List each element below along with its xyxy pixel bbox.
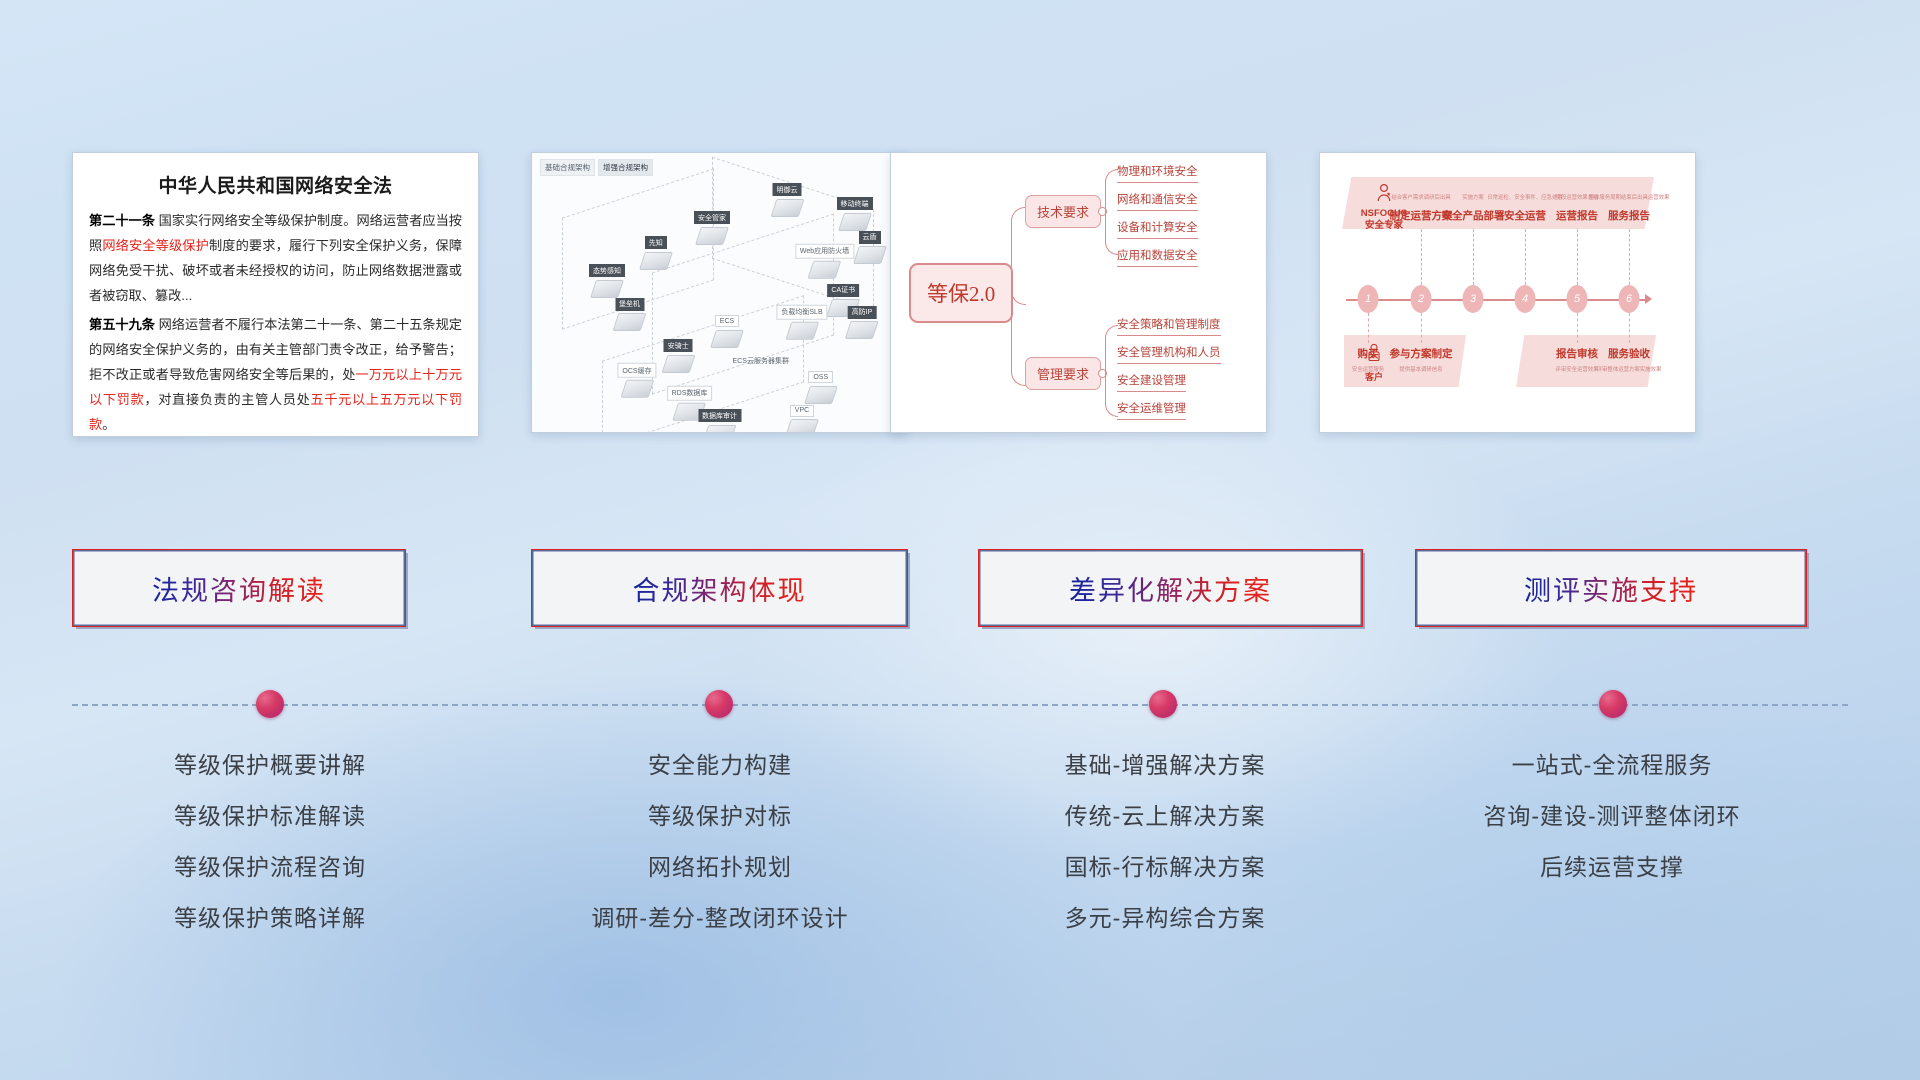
architecture-node-label: 先知	[645, 236, 667, 249]
server-box-icon	[785, 322, 819, 340]
list-item[interactable]: 等级保护流程咨询	[90, 842, 450, 893]
dengbao-mindmap: 等保2.0 技术要求 物理和环境安全 网络和通信安全 设备和计算安全 应用和数据…	[891, 153, 1266, 432]
architecture-node[interactable]: 负载均衡SLB	[776, 301, 827, 340]
architecture-node-label: CA证书	[827, 284, 859, 297]
timeline-top-step-sub: 实施方案	[1462, 193, 1484, 201]
detail-list-1: 安全能力构建 等级保护对标 网络拓扑规划 调研-差分-整改闭环设计	[540, 740, 900, 944]
section-heading-label: 合规架构体现	[633, 569, 807, 608]
architecture-node[interactable]: 移动终端	[837, 193, 873, 231]
architecture-node-label: 高防IP	[848, 306, 877, 319]
timeline-stem	[1525, 229, 1526, 285]
section-heading-1[interactable]: 合规架构体现	[531, 549, 908, 627]
section-heading-label: 测评实施支持	[1524, 569, 1698, 608]
mindmap-leaf[interactable]: 安全策略和管理制度	[1117, 316, 1221, 336]
architecture-node[interactable]: 明御云	[773, 179, 802, 217]
timeline-connector	[0, 690, 1920, 720]
root-curve-lower	[1011, 303, 1026, 386]
timeline-bottom-step-sub: 评审整体运营方案实施效果	[1597, 365, 1662, 373]
timeline-top-step-title[interactable]: 服务报告	[1608, 208, 1650, 223]
root-curve-upper	[1011, 207, 1026, 305]
architecture-node[interactable]: ECS	[713, 310, 741, 348]
section-heading-label: 差异化解决方案	[1069, 569, 1272, 608]
nsfocus-timeline-card[interactable]: NSFOCUS 安全专家 客户 123456制定运营方案结合客户需求调研后出具安…	[1319, 152, 1696, 433]
architecture-node-label: 移动终端	[837, 197, 873, 210]
law-article-21: 第二十一条 国家实行网络安全等级保护制度。网络运营者应当按照网络安全等级保护制度…	[89, 208, 462, 308]
timeline-top-step-sub: 结合客户需求调研后出具	[1391, 193, 1450, 201]
mindmap-root-node[interactable]: 等保2.0	[909, 263, 1013, 323]
list-item[interactable]: 等级保护对标	[540, 791, 900, 842]
mindmap-branch-management[interactable]: 管理要求	[1025, 357, 1101, 390]
list-item[interactable]: 咨询-建设-测评整体闭环	[1432, 791, 1792, 842]
timeline-stem	[1577, 313, 1578, 343]
mindmap-leaf[interactable]: 安全运维管理	[1117, 400, 1186, 420]
mindmap-leaf[interactable]: 安全建设管理	[1117, 372, 1186, 392]
mindmap-leaf[interactable]: 安全管理机构和人员	[1117, 344, 1221, 364]
architecture-node-label: 安骑士	[664, 339, 693, 352]
architecture-node-label: 堡垒机	[615, 298, 644, 311]
timeline-top-step-sub: 整体服务周期结束后出具运营效果	[1589, 193, 1670, 201]
article-text-seg: ，对直接负责的主管人员处	[144, 392, 310, 407]
timeline-top-step-title[interactable]: 安全产品部署	[1442, 208, 1505, 223]
mindmap-leaf[interactable]: 物理和环境安全	[1117, 163, 1198, 183]
tab-enhanced-architecture[interactable]: 增强合规架构	[598, 159, 653, 176]
mindmap-leaf[interactable]: 网络和通信安全	[1117, 191, 1198, 211]
timeline-stem	[1629, 313, 1630, 343]
timeline-top-step-title[interactable]: 运营报告	[1556, 208, 1598, 223]
architecture-node[interactable]: 安骑士	[664, 335, 693, 373]
architecture-node-label: 负载均衡SLB	[776, 305, 827, 320]
timeline-stem	[1421, 229, 1422, 285]
timeline-node-4[interactable]: 4	[1515, 285, 1536, 313]
timeline-bottom-step-title[interactable]: 报告审核	[1556, 346, 1598, 361]
server-box-icon	[838, 213, 872, 231]
list-item[interactable]: 基础-增强解决方案	[985, 740, 1345, 791]
timeline-bottom-step-sub: 评审安全运营效果	[1555, 365, 1598, 373]
timeline-bottom-step-sub: 安全运营服务	[1352, 365, 1384, 373]
architecture-node-label: Web应用防火墙	[795, 243, 854, 258]
timeline-stem	[1368, 313, 1369, 343]
architecture-node[interactable]: OSS	[807, 366, 835, 404]
architecture-node[interactable]: 先知	[642, 232, 670, 270]
server-box-icon	[613, 313, 647, 331]
server-box-icon	[770, 199, 804, 217]
architecture-node-label: 明御云	[773, 183, 802, 196]
article-text-seg: 。	[102, 417, 115, 432]
server-box-icon	[845, 321, 879, 339]
connector-dot-1[interactable]	[705, 690, 733, 718]
architecture-node-label: 数据库审计	[698, 409, 741, 422]
architecture-node[interactable]: 数据库审计	[698, 405, 741, 433]
timeline-node-3[interactable]: 3	[1463, 285, 1484, 313]
timeline-node-6[interactable]: 6	[1619, 285, 1640, 313]
timeline-arrow-icon	[1645, 294, 1652, 304]
section-heading-2[interactable]: 差异化解决方案	[978, 549, 1363, 627]
architecture-node-label: VPC	[790, 405, 814, 417]
list-item[interactable]: 等级保护概要讲解	[90, 740, 450, 791]
timeline-node-5[interactable]: 5	[1567, 285, 1588, 313]
architecture-node[interactable]: ECS云服务器集群	[729, 350, 793, 368]
law-card-title: 中华人民共和国网络安全法	[89, 171, 462, 198]
list-item[interactable]: 调研-差分-整改闭环设计	[540, 893, 900, 944]
architecture-node-label: 云盾	[859, 231, 881, 244]
server-box-icon	[808, 260, 842, 278]
server-box-icon	[620, 380, 654, 398]
architecture-node-label: OCS缓存	[617, 363, 656, 378]
connector-dot-3[interactable]	[1599, 690, 1627, 718]
list-item[interactable]: 多元-异构综合方案	[985, 893, 1345, 944]
connector-dot-0[interactable]	[256, 690, 284, 718]
architecture-node[interactable]: 态势感知	[589, 260, 625, 298]
article-text-highlight: 网络安全等级保护	[102, 238, 209, 253]
timeline-stem	[1577, 229, 1578, 285]
architecture-tabs[interactable]: 基础合规架构 增强合规架构	[540, 159, 653, 176]
list-item[interactable]: 国标-行标解决方案	[985, 842, 1345, 893]
list-item[interactable]: 安全能力构建	[540, 740, 900, 791]
list-item[interactable]: 一站式-全流程服务	[1432, 740, 1792, 791]
service-timeline: NSFOCUS 安全专家 客户 123456制定运营方案结合客户需求调研后出具安…	[1320, 153, 1695, 432]
timeline-bottom-step-title[interactable]: 服务验收	[1608, 346, 1650, 361]
list-item[interactable]: 传统-云上解决方案	[985, 791, 1345, 842]
timeline-stem	[1473, 229, 1474, 285]
server-box-icon	[710, 330, 744, 348]
architecture-node-label: OSS	[808, 371, 833, 383]
server-box-icon	[853, 246, 887, 264]
article-number: 第二十一条	[89, 213, 155, 228]
architecture-card[interactable]: 基础合规架构 增强合规架构 态势感知先知安全管家明御云堡垒机安骑士ECS负载均衡…	[531, 152, 908, 433]
connector-dashed-line	[72, 704, 1848, 706]
architecture-node-label: 安全管家	[694, 211, 730, 224]
architecture-node[interactable]: Web应用防火墙	[795, 240, 854, 279]
timeline-node-1[interactable]: 1	[1358, 285, 1379, 313]
detail-list-0: 等级保护概要讲解 等级保护标准解读 等级保护流程咨询 等级保护策略详解	[90, 740, 450, 944]
mindmap-branch-technical[interactable]: 技术要求	[1025, 195, 1101, 228]
architecture-node-label: 态势感知	[589, 264, 625, 277]
architecture-node-label: ECS	[715, 315, 739, 327]
detail-list-2: 基础-增强解决方案 传统-云上解决方案 国标-行标解决方案 多元-异构综合方案	[985, 740, 1345, 944]
timeline-bottom-step-sub: 提供基本调研信息	[1399, 365, 1442, 373]
server-box-icon	[703, 425, 737, 433]
reference-screenshot-row: 中华人民共和国网络安全法 第二十一条 国家实行网络安全等级保护制度。网络运营者应…	[0, 0, 1920, 430]
architecture-node-label: ECS云服务器集群	[729, 355, 793, 368]
timeline-node-2[interactable]: 2	[1411, 285, 1432, 313]
timeline-bottom-step-title[interactable]: 购买	[1358, 346, 1379, 361]
timeline-stem	[1421, 313, 1422, 343]
cybersecurity-law-card[interactable]: 中华人民共和国网络安全法 第二十一条 国家实行网络安全等级保护制度。网络运营者应…	[72, 152, 479, 437]
section-heading-label: 法规咨询解读	[152, 569, 326, 608]
section-heading-0[interactable]: 法规咨询解读	[72, 549, 406, 627]
expert-person-icon	[1375, 183, 1393, 203]
customer-band-right	[1516, 335, 1656, 387]
timeline-axis	[1346, 299, 1646, 301]
server-box-icon	[639, 252, 673, 270]
mindmap-leaf[interactable]: 设备和计算安全	[1117, 219, 1198, 239]
article-number: 第五十九条	[89, 317, 155, 332]
architecture-node[interactable]: 云盾	[856, 226, 884, 264]
timeline-top-step-title[interactable]: 安全运营	[1504, 208, 1546, 223]
timeline-stem	[1629, 229, 1630, 285]
law-article-59: 第五十九条 网络运营者不履行本法第二十一条、第二十五条规定的网络安全保护义务的，…	[89, 312, 462, 437]
list-item[interactable]: 等级保护标准解读	[90, 791, 450, 842]
timeline-top-step-sub: 日常巡检、安全事件、应急处置	[1487, 193, 1562, 201]
architecture-node[interactable]: 安全管家	[694, 207, 730, 245]
server-box-icon	[695, 227, 729, 245]
architecture-diagram: 基础合规架构 增强合规架构 态势感知先知安全管家明御云堡垒机安骑士ECS负载均衡…	[532, 153, 907, 432]
tab-basic-architecture[interactable]: 基础合规架构	[540, 159, 595, 176]
mindmap-card[interactable]: 等保2.0 技术要求 物理和环境安全 网络和通信安全 设备和计算安全 应用和数据…	[890, 152, 1267, 433]
architecture-node[interactable]: 堡垒机	[615, 293, 644, 331]
detail-list-3: 一站式-全流程服务 咨询-建设-测评整体闭环 后续运营支撑	[1432, 740, 1792, 893]
architecture-node[interactable]: 高防IP	[848, 301, 877, 339]
list-item[interactable]: 后续运营支撑	[1432, 842, 1792, 893]
architecture-node[interactable]: OCS缓存	[617, 360, 656, 399]
mindmap-leaf[interactable]: 应用和数据安全	[1117, 247, 1198, 267]
list-item[interactable]: 网络拓扑规划	[540, 842, 900, 893]
section-heading-3[interactable]: 测评实施支持	[1415, 549, 1807, 627]
architecture-node[interactable]: VPC	[788, 399, 816, 433]
server-box-icon	[661, 355, 695, 373]
architecture-node-label: RDS数据库	[667, 386, 713, 401]
server-box-icon	[785, 419, 819, 433]
timeline-bottom-step-title[interactable]: 参与方案制定	[1390, 346, 1453, 361]
list-item[interactable]: 等级保护策略详解	[90, 893, 450, 944]
connector-dot-2[interactable]	[1149, 690, 1177, 718]
